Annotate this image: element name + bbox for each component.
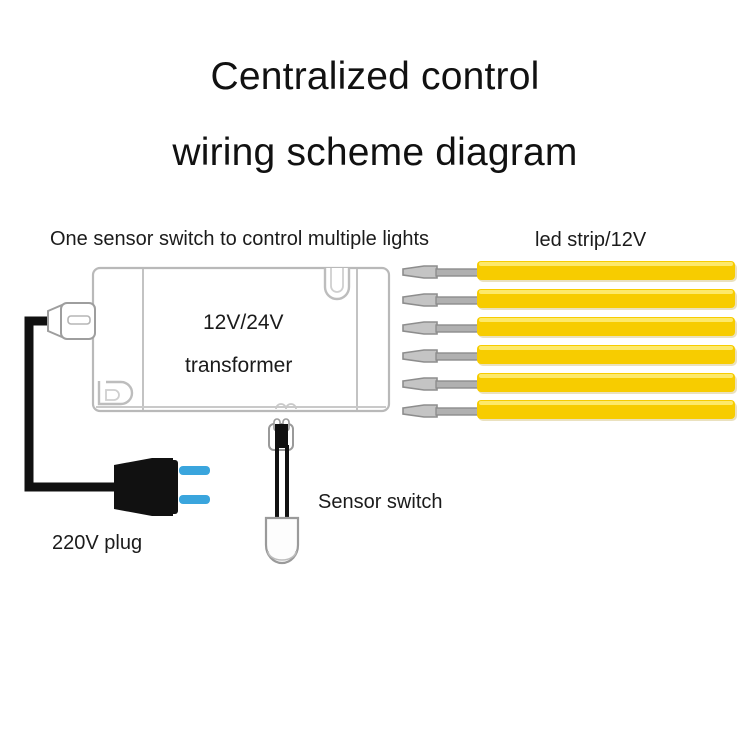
mount-hook-icon <box>99 381 132 404</box>
strip-lead-shaft <box>436 353 478 360</box>
strip-lead-head <box>403 378 437 390</box>
strip-lead-head <box>403 322 437 334</box>
strip-lead-shaft <box>436 381 478 388</box>
strip-lead-head <box>403 266 437 278</box>
led-strip-highlight <box>479 346 733 350</box>
transformer-unit <box>93 268 389 411</box>
cable-gland-icon <box>48 303 95 339</box>
mount-tab-icon <box>325 268 349 299</box>
sensor-connector-core <box>275 424 288 448</box>
caption-220v-plug: 220V plug <box>52 533 142 553</box>
caption-led-strip: led strip/12V <box>535 230 646 250</box>
power-plug <box>114 458 210 516</box>
power-plug-prong-top <box>179 466 210 475</box>
led-strip-highlight <box>479 262 733 266</box>
led-strip-highlight <box>479 401 733 405</box>
sensor-switch <box>266 419 298 563</box>
page-title-line-2: wiring scheme diagram <box>0 133 750 172</box>
led-strip-highlight <box>479 290 733 294</box>
power-plug-prong-bottom <box>179 495 210 504</box>
led-strip-row <box>403 345 737 366</box>
power-plug-body <box>114 458 173 516</box>
led-strip-highlight <box>479 318 733 322</box>
transformer-name-label: transformer <box>185 355 292 376</box>
wiring-diagram-canvas <box>0 0 750 750</box>
caption-sensor-switch: Sensor switch <box>318 492 443 512</box>
led-strip-row <box>403 317 737 338</box>
page-title-line-1: Centralized control <box>0 57 750 96</box>
power-plug-face <box>170 460 178 514</box>
caption-multiple-lights: One sensor switch to control multiple li… <box>50 229 429 249</box>
led-strip-highlight <box>479 374 733 378</box>
led-strip-row <box>403 261 737 282</box>
led-strip-row <box>403 289 737 310</box>
strip-lead-head <box>403 405 437 417</box>
strip-lead-shaft <box>436 297 478 304</box>
led-strip-group <box>403 261 737 421</box>
led-strip-row <box>403 373 737 394</box>
strip-lead-head <box>403 350 437 362</box>
transformer-voltage-label: 12V/24V <box>203 312 284 333</box>
strip-lead-shaft <box>436 325 478 332</box>
strip-lead-shaft <box>436 408 478 415</box>
strip-lead-shaft <box>436 269 478 276</box>
led-strip-row <box>403 400 737 421</box>
strip-lead-head <box>403 294 437 306</box>
